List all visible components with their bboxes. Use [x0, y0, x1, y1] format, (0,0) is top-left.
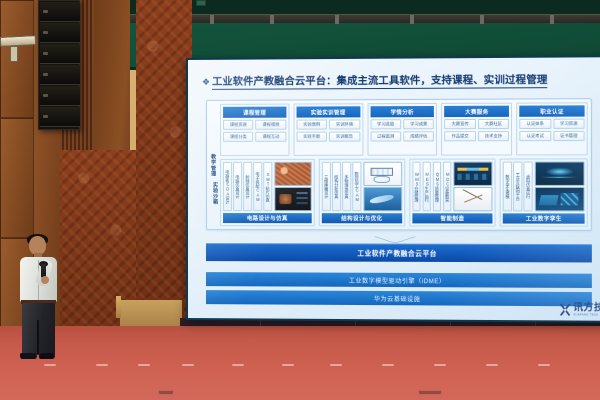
- teaching-management-row: 课程管理 课程资源 课程视频 课程分类 课程互动 实验实训管理 实验案: [220, 102, 588, 156]
- feature-cell[interactable]: 课程视频: [256, 120, 287, 130]
- logo-text-en: XUNFANG TECH: [573, 314, 600, 317]
- side-label-sandbox: 实验沙箱: [210, 167, 221, 219]
- feature-cell[interactable]: 实训环境: [329, 119, 360, 129]
- group-header: 职业认证: [519, 105, 584, 116]
- sandbox-smart-manufacturing[interactable]: WMS仓储管理 MES生产执行 QMS质量管理 MDC设备数采: [409, 159, 496, 227]
- tool-tab[interactable]: 电路仿真设计: [233, 162, 242, 211]
- led-display-screen: ❖工业软件产教融合云平台：集成主流工具软件，支持课程、实训过程管理 教学管理 课…: [186, 55, 600, 323]
- feature-cell[interactable]: 认证体系: [519, 119, 550, 129]
- platform-bar-huawei-cloud[interactable]: 华为云基础设施: [206, 290, 592, 306]
- feature-cell[interactable]: 过程监测: [370, 131, 401, 141]
- stage-light-bar: [0, 35, 36, 47]
- feature-cell[interactable]: 大赛宣传: [445, 119, 476, 129]
- lighting-truss: [120, 14, 600, 23]
- presentation-slide: ❖工业软件产教融合云平台：集成主流工具软件，支持课程、实训过程管理 教学管理 课…: [188, 57, 600, 320]
- platform-bar-idme-engine[interactable]: 工业数字模型驱动引擎（iDME）: [206, 272, 592, 288]
- tool-tab[interactable]: QMS质量管理: [433, 162, 442, 212]
- group-header: 大赛服务: [445, 106, 510, 117]
- feature-cell[interactable]: 课程互动: [256, 132, 287, 142]
- tool-tab[interactable]: 数控加工CAM: [352, 162, 361, 211]
- feature-cell[interactable]: 实验手册: [296, 132, 327, 142]
- feature-cell[interactable]: 技术支持: [478, 131, 509, 141]
- group-learning-analytics[interactable]: 学情分析 学习进度 学习成果 过程监测 成绩评估: [367, 103, 437, 156]
- group-header: 实验实训管理: [296, 106, 360, 117]
- tool-tab[interactable]: WMS仓储管理: [412, 162, 421, 212]
- mes-dashboard-thumbnail[interactable]: [454, 162, 493, 186]
- sandbox-footer: 结构设计与优化: [322, 213, 402, 223]
- slide-title: ❖工业软件产教融合云平台：集成主流工具软件，支持课程、实训过程管理: [202, 71, 596, 88]
- tool-tab[interactable]: SMT贴片仿真: [263, 162, 272, 211]
- company-logo: 讯方技 XUNFANG TECH: [560, 303, 600, 317]
- tool-tab[interactable]: 结构分析仿真: [332, 162, 341, 211]
- slide-title-text: 工业软件产教融合云平台：集成主流工具软件，支持课程、实训过程管理: [212, 75, 547, 90]
- feature-cell[interactable]: 学习资源: [553, 119, 585, 129]
- photo-scene: ❖工业软件产教融合云平台：集成主流工具软件，支持课程、实训过程管理 教学管理 课…: [0, 0, 600, 400]
- tool-tab[interactable]: 射频仿真设计: [243, 162, 252, 211]
- line-array-speaker: [38, 0, 80, 130]
- feature-cell[interactable]: 实验案例: [296, 120, 327, 130]
- feature-cell[interactable]: 课程资源: [223, 120, 254, 130]
- tool-tab[interactable]: 三维建模设计: [322, 162, 331, 211]
- eda-workspace-thumbnail[interactable]: [274, 187, 312, 211]
- tool-tab[interactable]: 电子装配CAM: [253, 162, 262, 211]
- floor-access-plate: [418, 390, 442, 395]
- logo-text-cn: 讯方技: [573, 303, 600, 313]
- logo-mark-icon: [560, 303, 571, 316]
- tool-tab[interactable]: MDC设备数采: [443, 162, 452, 212]
- red-carpet-floor: [0, 326, 600, 400]
- pcb-board-thumbnail[interactable]: [274, 162, 312, 186]
- sandbox-structure-design[interactable]: 三维建模设计 结构分析仿真 多物理场仿真 数控加工CAM: [319, 159, 405, 227]
- feature-cell[interactable]: 实训报告: [329, 131, 360, 141]
- feature-cell[interactable]: 大赛社区: [478, 119, 509, 129]
- damask-wall-fabric: [136, 0, 192, 330]
- experiment-sandbox-row: 电路板EDA设计 电路仿真设计 射频仿真设计 电子装配CAM SMT贴片仿真: [220, 158, 588, 226]
- tool-tab[interactable]: MES生产执行: [422, 162, 431, 212]
- feature-cell[interactable]: 课程分类: [223, 132, 254, 142]
- robot-cell-thumbnail[interactable]: [454, 187, 493, 211]
- group-competition-service[interactable]: 大赛服务 大赛宣传 大赛社区 作品提交 技术支持: [441, 103, 512, 156]
- feature-cell[interactable]: 作品提交: [445, 131, 476, 141]
- feature-cell[interactable]: 成绩评估: [403, 131, 434, 141]
- stage-sign-post: [116, 296, 121, 318]
- platform-architecture-card: 教学管理 课程管理 课程资源 课程视频 课程分类 课程互动: [206, 98, 592, 231]
- tool-tab[interactable]: 虚拟仿真运行: [524, 162, 533, 212]
- group-header: 学情分析: [370, 106, 434, 117]
- tool-tab[interactable]: 数字孪生建模: [503, 162, 512, 212]
- tool-tab[interactable]: 多物理场仿真: [342, 162, 351, 211]
- stage-light-bar: [10, 46, 18, 62]
- feature-cell[interactable]: 认证考试: [519, 131, 550, 141]
- feature-cell[interactable]: 证书管理: [553, 131, 585, 141]
- sandbox-digital-twin[interactable]: 数字孪生建模 工业互联网平台 虚拟仿真运行 工业数字孪生: [500, 158, 588, 226]
- group-experiment-management[interactable]: 实验实训管理 实验案例 实训环境 实验手册 实训报告: [293, 103, 363, 156]
- presenter-leg-gap: [37, 320, 39, 354]
- group-course-management[interactable]: 课程管理 课程资源 课程视频 课程分类 课程互动: [220, 104, 289, 156]
- presenter-hand: [41, 276, 49, 284]
- tool-tab[interactable]: 电路板EDA设计: [223, 162, 232, 211]
- tool-tab[interactable]: 工业互联网平台: [513, 162, 522, 212]
- smart-factory-thumbnail[interactable]: [535, 187, 585, 211]
- sandbox-footer: 电路设计与仿真: [223, 213, 312, 223]
- group-vocational-certification[interactable]: 职业认证 认证体系 学习资源 认证考试 证书管理: [516, 102, 587, 155]
- bullet-marker: ❖: [202, 77, 209, 87]
- feature-cell[interactable]: 学习成果: [403, 119, 434, 129]
- platform-bar-cloud-platform[interactable]: 工业软件产教融合云平台: [206, 243, 592, 262]
- presenter: [8, 236, 72, 366]
- 3d-part-render-thumbnail[interactable]: [363, 187, 402, 211]
- floor-access-plate: [158, 390, 174, 395]
- feature-cell[interactable]: 学习进度: [370, 119, 401, 129]
- sandbox-circuit-design[interactable]: 电路板EDA设计 电路仿真设计 射频仿真设计 电子装配CAM SMT贴片仿真: [220, 159, 315, 226]
- sandbox-footer: 智能制造: [412, 213, 493, 223]
- ceiling-light-fixture: [196, 0, 206, 6]
- presenter-shoe: [20, 353, 37, 359]
- sandbox-footer: 工业数字孪生: [503, 213, 584, 223]
- digital-twin-thumbnail[interactable]: [535, 161, 585, 185]
- presenter-shoe: [39, 353, 55, 359]
- cad-drawing-thumbnail[interactable]: [363, 162, 402, 186]
- group-header: 课程管理: [223, 107, 286, 118]
